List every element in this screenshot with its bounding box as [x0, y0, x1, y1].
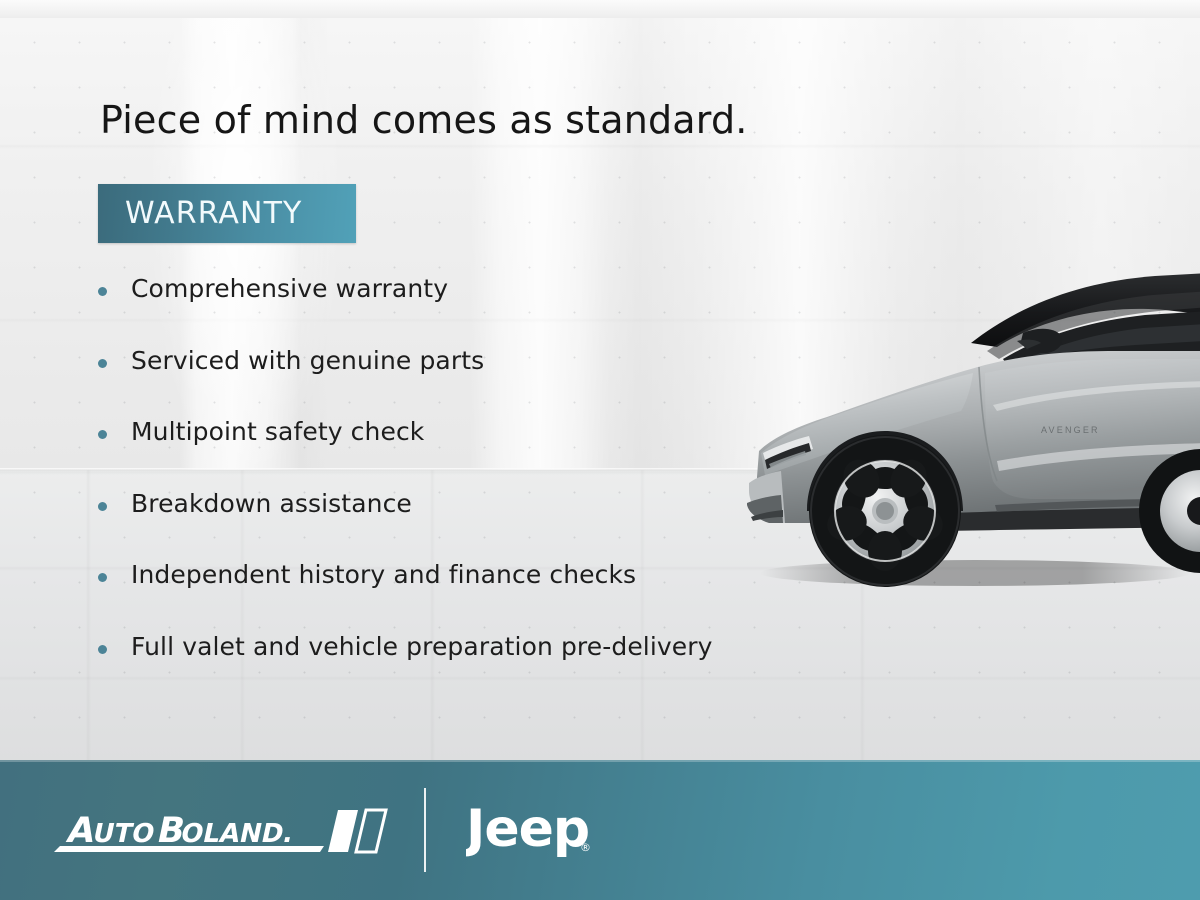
jeep-avenger-vehicle-image: AVENGER [735, 255, 1200, 600]
list-item: Serviced with genuine parts [98, 348, 798, 420]
marketing-slide: AVENGER Piece of mind comes as standard.… [0, 0, 1200, 900]
list-item-label: Multipoint safety check [131, 419, 424, 444]
list-item: Breakdown assistance [98, 491, 798, 563]
svg-text:UTO: UTO [90, 819, 157, 849]
list-item: Comprehensive warranty [98, 276, 798, 348]
list-item: Multipoint safety check [98, 419, 798, 491]
bullet-dot-icon [98, 430, 107, 439]
footer-logo-divider [424, 788, 426, 872]
auto-boland-logo[interactable]: A UTO B OLAND. [52, 802, 402, 868]
jeep-trademark-icon: ® [580, 841, 591, 854]
list-item: Independent history and finance checks [98, 562, 798, 634]
logo-underline [54, 846, 324, 852]
bullet-dot-icon [98, 287, 107, 296]
svg-text:OLAND.: OLAND. [178, 819, 296, 849]
list-item-label: Comprehensive warranty [131, 276, 448, 301]
logo-flag-outline [356, 810, 386, 852]
bullet-dot-icon [98, 573, 107, 582]
vehicle-side-badge: AVENGER [1041, 425, 1100, 435]
bullet-dot-icon [98, 359, 107, 368]
page-title: Piece of mind comes as standard. [100, 98, 748, 142]
warranty-feature-list: Comprehensive warranty Serviced with gen… [98, 276, 798, 705]
list-item-label: Full valet and vehicle preparation pre-d… [131, 634, 713, 659]
jeep-wordmark: Jeep [466, 799, 589, 859]
jeep-logo[interactable]: Jeep ® [466, 799, 626, 865]
logo-flag-solid [328, 810, 358, 852]
warranty-badge-label: WARRANTY [125, 196, 302, 231]
front-wheel [809, 435, 961, 587]
bullet-dot-icon [98, 645, 107, 654]
footer-top-edge [0, 760, 1200, 762]
list-item-label: Breakdown assistance [131, 491, 412, 516]
list-item-label: Serviced with genuine parts [131, 348, 484, 373]
list-item-label: Independent history and finance checks [131, 562, 636, 587]
list-item: Full valet and vehicle preparation pre-d… [98, 634, 798, 706]
vehicle-shadow [760, 560, 1190, 586]
warranty-badge: WARRANTY [98, 184, 356, 243]
bullet-dot-icon [98, 502, 107, 511]
